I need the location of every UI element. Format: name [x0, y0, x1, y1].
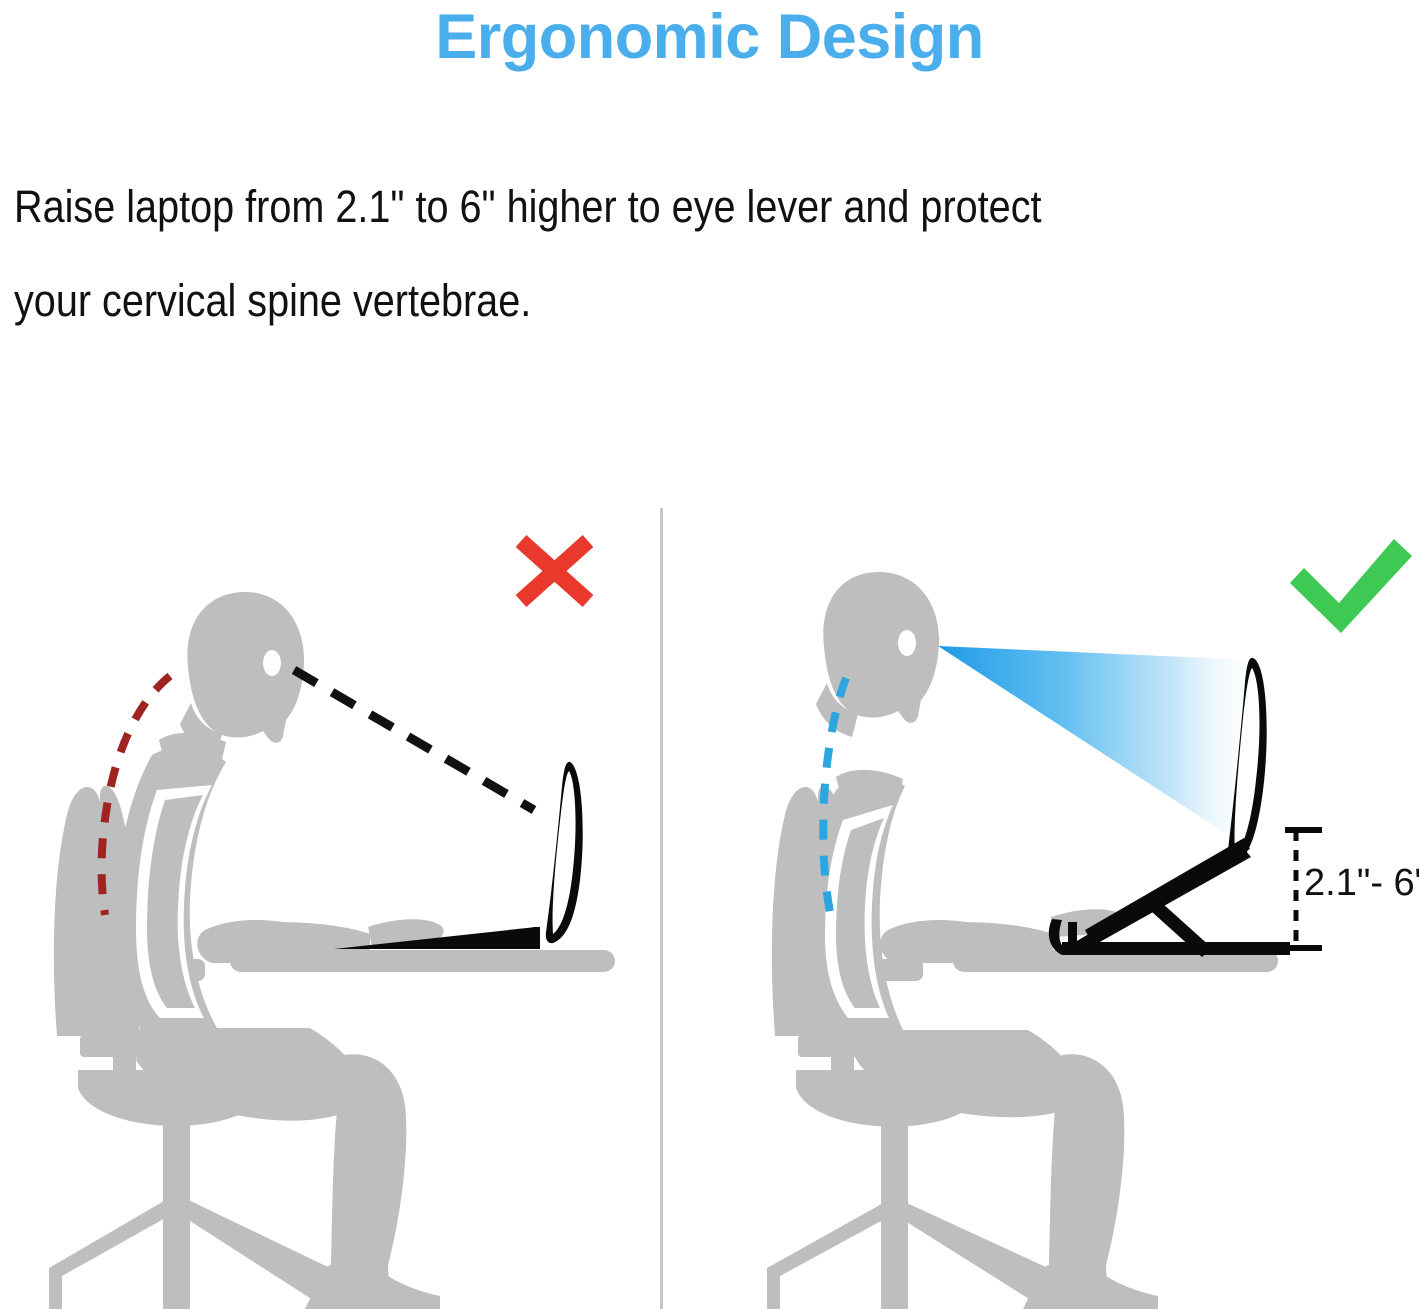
ergonomic-design-infographic: Ergonomic Design Raise laptop from 2.1" … — [0, 0, 1419, 1309]
illustration-stage — [0, 0, 1419, 1309]
red-x-mark — [521, 541, 588, 601]
correct-posture-illustration — [767, 539, 1412, 1309]
laptop-flat — [334, 762, 583, 949]
incorrect-posture-illustration — [49, 541, 615, 1309]
vision-cone — [938, 646, 1253, 848]
green-check-mark — [1290, 539, 1412, 633]
height-dimension-label: 2.1"- 6" — [1304, 864, 1419, 902]
gaze-line-incorrect — [294, 670, 534, 810]
